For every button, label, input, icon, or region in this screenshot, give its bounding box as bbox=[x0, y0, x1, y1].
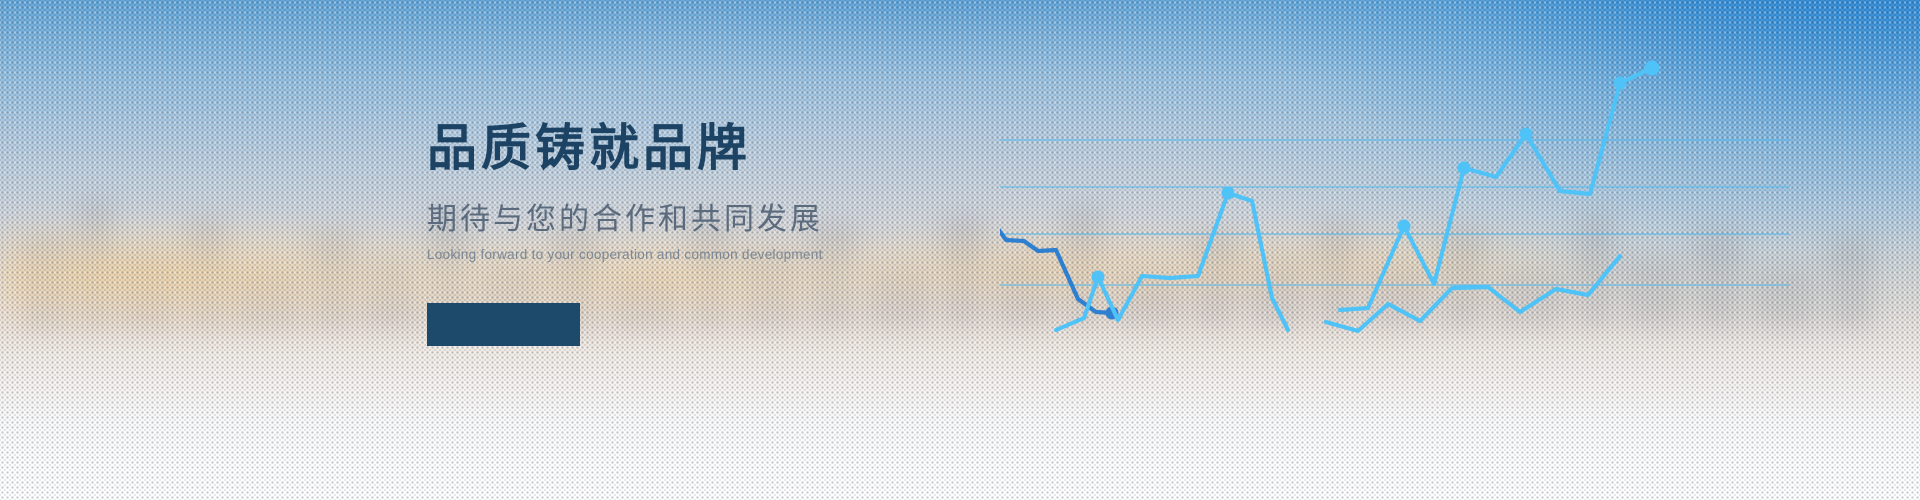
cta-button[interactable] bbox=[427, 303, 580, 346]
banner-copy: 品质铸就品牌 期待与您的合作和共同发展 Looking forward to y… bbox=[427, 120, 1047, 262]
data-point-marker[interactable] bbox=[1645, 61, 1660, 76]
hero-banner: 品质铸就品牌 期待与您的合作和共同发展 Looking forward to y… bbox=[0, 0, 1920, 500]
page-subtitle: 期待与您的合作和共同发展 bbox=[427, 202, 1047, 238]
data-point-marker[interactable] bbox=[1614, 77, 1627, 90]
data-point-marker[interactable] bbox=[1222, 187, 1235, 200]
data-point-marker[interactable] bbox=[1520, 128, 1533, 141]
page-title: 品质铸就品牌 bbox=[427, 120, 1047, 178]
line-chart: 100000 80000 60000 40000 bbox=[1000, 0, 1920, 500]
data-point-marker[interactable] bbox=[1458, 162, 1471, 175]
chart-svg: 100000 80000 60000 40000 bbox=[1000, 0, 1920, 500]
data-point-marker[interactable] bbox=[1092, 271, 1105, 284]
gridlines bbox=[1000, 140, 1790, 285]
series-light-cyan-c-path bbox=[1326, 256, 1620, 331]
data-point-marker[interactable] bbox=[1398, 220, 1411, 233]
page-subtitle-en: Looking forward to your cooperation and … bbox=[427, 247, 1047, 262]
